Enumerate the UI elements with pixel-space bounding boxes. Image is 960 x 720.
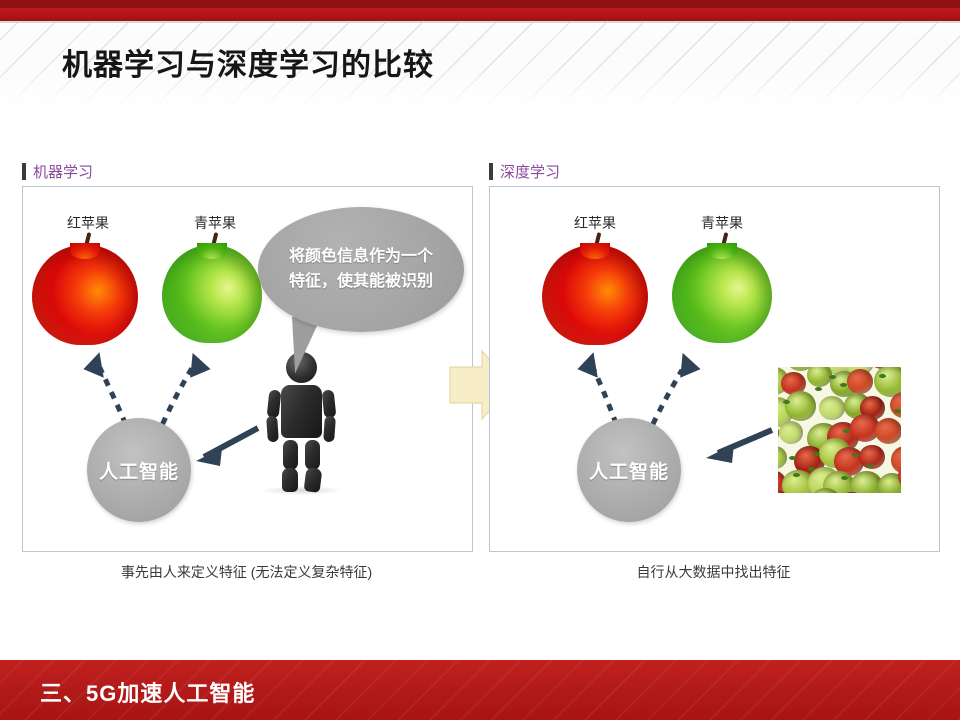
footer-section-label: 三、5G加速人工智能 [40, 676, 255, 708]
connector-layer-right [0, 0, 960, 720]
fruit-stem-speck [894, 409, 901, 413]
fruit-stem-speck [879, 374, 886, 378]
fruit-blob [847, 369, 873, 393]
fruit-blob [819, 396, 845, 421]
fruit-blob [875, 418, 901, 444]
ai-node-label-right: 人工智能 [589, 457, 669, 484]
dashed-arrowhead-green-right [673, 349, 701, 378]
dashed-arrowhead-red-right [577, 349, 605, 378]
fruit-blob [779, 421, 803, 444]
fruit-stem-speck [841, 476, 848, 480]
caption-deep-learning: 自行从大数据中找出特征 [489, 562, 938, 582]
solid-arrow-photo-to-ai [706, 430, 772, 463]
fruit-stem-speck [815, 387, 822, 391]
ai-node-right: 人工智能 [577, 418, 681, 522]
fruit-blob [778, 446, 787, 469]
fruit-stem-speck [808, 467, 815, 471]
fruit-stem-speck [789, 456, 796, 460]
slide-root: 机器学习与深度学习的比较 机器学习 深度学习 红苹果 青苹果 [0, 0, 960, 720]
fruit-blob [785, 391, 816, 421]
fruit-stem-speck [793, 473, 800, 477]
fruit-blob [890, 392, 901, 418]
fruit-stem-speck [843, 429, 850, 433]
big-data-fruit-photo [778, 367, 901, 493]
fruit-stem-speck [852, 453, 859, 457]
fruit-stem-speck [829, 375, 836, 379]
